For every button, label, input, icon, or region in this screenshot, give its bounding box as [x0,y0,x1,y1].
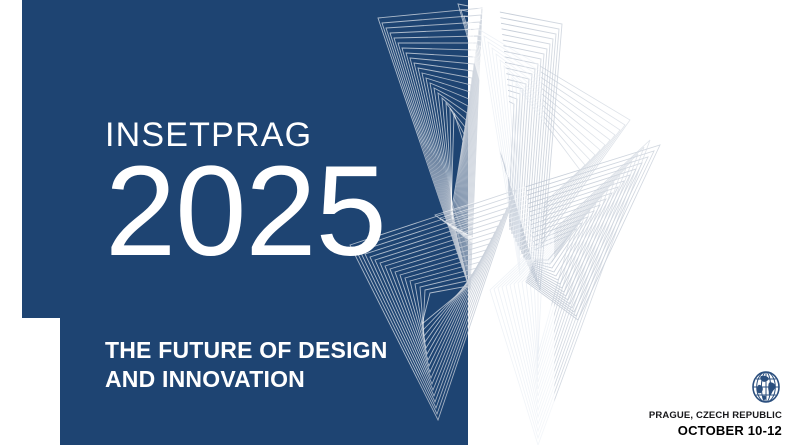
conference-poster: INSETPRAG 2025 THE FUTURE OF DESIGN AND … [0,0,800,445]
event-info: PRAGUE, CZECH REPUBLIC OCTOBER 10-12 [552,370,782,440]
event-year: 2025 [105,158,435,266]
event-dates: OCTOBER 10-12 [552,422,782,440]
title-block: INSETPRAG 2025 [105,118,435,266]
tagline: THE FUTURE OF DESIGN AND INNOVATION [105,336,405,395]
event-location: PRAGUE, CZECH REPUBLIC [552,410,782,423]
tagline-line-2: AND INNOVATION [105,365,405,394]
globe-icon [552,370,782,404]
tagline-line-1: THE FUTURE OF DESIGN [105,336,405,365]
